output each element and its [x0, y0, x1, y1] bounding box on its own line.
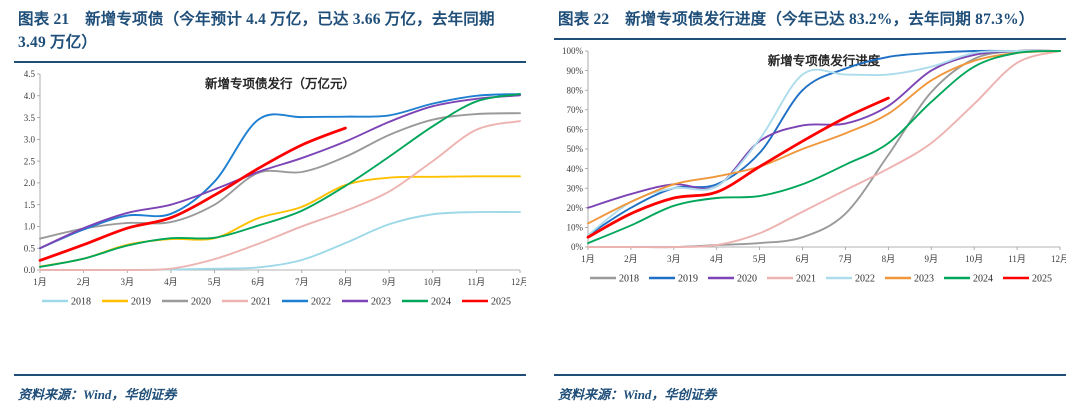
y-axis-tick-label: 60% — [567, 125, 584, 135]
x-axis-tick-label: 8月 — [882, 254, 896, 264]
y-axis-tick-label: 0.0 — [24, 265, 36, 275]
y-axis-tick-label: 3.0 — [24, 134, 36, 144]
y-axis-tick-label: 40% — [567, 164, 584, 174]
y-axis-tick-label: 90% — [567, 66, 584, 76]
legend-label-2022[interactable]: 2022 — [311, 296, 331, 307]
series-line-2025 — [40, 128, 345, 260]
x-axis-tick-label: 12月 — [511, 277, 526, 287]
series-line-2018 — [588, 50, 1060, 247]
legend-label-2018[interactable]: 2018 — [619, 274, 639, 285]
x-axis-tick-label: 1月 — [581, 254, 595, 264]
panel-figure-22: 图表 22 新增专项债发行进度（今年已达 83.2%，去年同期 87.3%） 0… — [540, 0, 1080, 412]
figure-22-svg: 0%10%20%30%40%50%60%70%80%90%100%1月2月3月4… — [554, 43, 1066, 305]
figure-21-top-rule — [14, 61, 526, 63]
y-axis-tick-label: 3.5 — [24, 113, 36, 123]
y-axis-tick-label: 70% — [567, 105, 584, 115]
figure-22-chart: 0%10%20%30%40%50%60%70%80%90%100%1月2月3月4… — [554, 43, 1066, 305]
legend-label-2025[interactable]: 2025 — [491, 296, 511, 307]
x-axis-tick-label: 5月 — [753, 254, 767, 264]
figure-21-source: 资料来源：Wind，华创证券 — [18, 384, 176, 403]
y-axis-tick-label: 2.5 — [24, 156, 36, 166]
figure-21-chart: 0.00.51.01.52.02.53.03.54.04.51月2月3月4月5月… — [14, 66, 526, 328]
x-axis-tick-label: 9月 — [925, 254, 939, 264]
y-axis-tick-label: 80% — [567, 85, 584, 95]
x-axis-tick-label: 6月 — [796, 254, 810, 264]
figure-21-bottom-rule — [14, 374, 526, 376]
x-axis-tick-label: 4月 — [164, 277, 178, 287]
y-axis-tick-label: 30% — [567, 183, 584, 193]
x-axis-tick-label: 7月 — [295, 277, 309, 287]
plot-title: 新增专项债发行（万亿元） — [205, 76, 355, 91]
figure-22-source: 资料来源：Wind，华创证券 — [558, 384, 716, 403]
legend-label-2018[interactable]: 2018 — [71, 296, 91, 307]
x-axis-tick-label: 11月 — [1008, 254, 1026, 264]
legend-label-2022[interactable]: 2022 — [855, 274, 875, 285]
x-axis-tick-label: 2月 — [77, 277, 91, 287]
y-axis-tick-label: 1.0 — [24, 222, 36, 232]
series-line-2021 — [40, 121, 520, 270]
x-axis-tick-label: 8月 — [339, 277, 353, 287]
y-axis-tick-label: 50% — [567, 144, 584, 154]
figure-22-title: 图表 22 新增专项债发行进度（今年已达 83.2%，去年同期 87.3%） — [554, 0, 1066, 32]
series-line-2022 — [588, 51, 1060, 235]
x-axis-tick-label: 5月 — [208, 277, 222, 287]
legend-label-2019[interactable]: 2019 — [678, 274, 698, 285]
y-axis-tick-label: 10% — [567, 223, 584, 233]
y-axis-tick-label: 4.5 — [24, 69, 36, 79]
x-axis-tick-label: 4月 — [710, 254, 724, 264]
series-line-2024 — [40, 94, 520, 267]
y-axis-tick-label: 100% — [562, 46, 584, 56]
x-axis-tick-label: 6月 — [251, 277, 265, 287]
x-axis-tick-label: 3月 — [121, 277, 135, 287]
x-axis-tick-label: 11月 — [468, 277, 486, 287]
x-axis-tick-label: 7月 — [839, 254, 853, 264]
x-axis-tick-label: 2月 — [624, 254, 638, 264]
y-axis-tick-label: 20% — [567, 203, 584, 213]
y-axis-tick-label: 0.5 — [24, 243, 36, 253]
y-axis-tick-label: 2.0 — [24, 178, 36, 188]
legend-label-2020[interactable]: 2020 — [191, 296, 211, 307]
figure-page: 图表 21 新增专项债（今年预计 4.4 万亿，已达 3.66 万亿，去年同期 … — [0, 0, 1080, 412]
x-axis-tick-label: 12月 — [1051, 254, 1066, 264]
legend-label-2019[interactable]: 2019 — [131, 296, 151, 307]
legend-label-2024[interactable]: 2024 — [973, 274, 993, 285]
legend-label-2020[interactable]: 2020 — [737, 274, 757, 285]
figure-22-bottom-rule — [554, 374, 1066, 376]
figure-22-top-rule — [554, 38, 1066, 40]
panel-figure-21: 图表 21 新增专项债（今年预计 4.4 万亿，已达 3.66 万亿，去年同期 … — [0, 0, 540, 412]
x-axis-tick-label: 9月 — [382, 277, 396, 287]
legend-label-2023[interactable]: 2023 — [914, 274, 934, 285]
series-line-2021 — [588, 51, 1060, 247]
x-axis-tick-label: 10月 — [424, 277, 442, 287]
x-axis-tick-label: 10月 — [965, 254, 983, 264]
legend-label-2021[interactable]: 2021 — [251, 296, 271, 307]
series-line-2019 — [588, 51, 1060, 235]
legend-label-2023[interactable]: 2023 — [371, 296, 391, 307]
y-axis-tick-label: 1.5 — [24, 200, 36, 210]
legend-label-2025[interactable]: 2025 — [1032, 274, 1052, 285]
legend-label-2024[interactable]: 2024 — [431, 296, 451, 307]
figure-21-svg: 0.00.51.01.52.02.53.03.54.04.51月2月3月4月5月… — [14, 66, 526, 328]
series-line-2019 — [40, 176, 520, 266]
y-axis-tick-label: 0% — [571, 242, 584, 252]
figure-21-title: 图表 21 新增专项债（今年预计 4.4 万亿，已达 3.66 万亿，去年同期 … — [14, 0, 526, 55]
y-axis-tick-label: 4.0 — [24, 91, 36, 101]
x-axis-tick-label: 3月 — [667, 254, 681, 264]
x-axis-tick-label: 1月 — [33, 277, 47, 287]
series-line-2018 — [40, 212, 520, 270]
plot-title: 新增专项债发行进度 — [768, 53, 881, 68]
series-line-2024 — [588, 51, 1060, 243]
legend-label-2021[interactable]: 2021 — [796, 274, 816, 285]
